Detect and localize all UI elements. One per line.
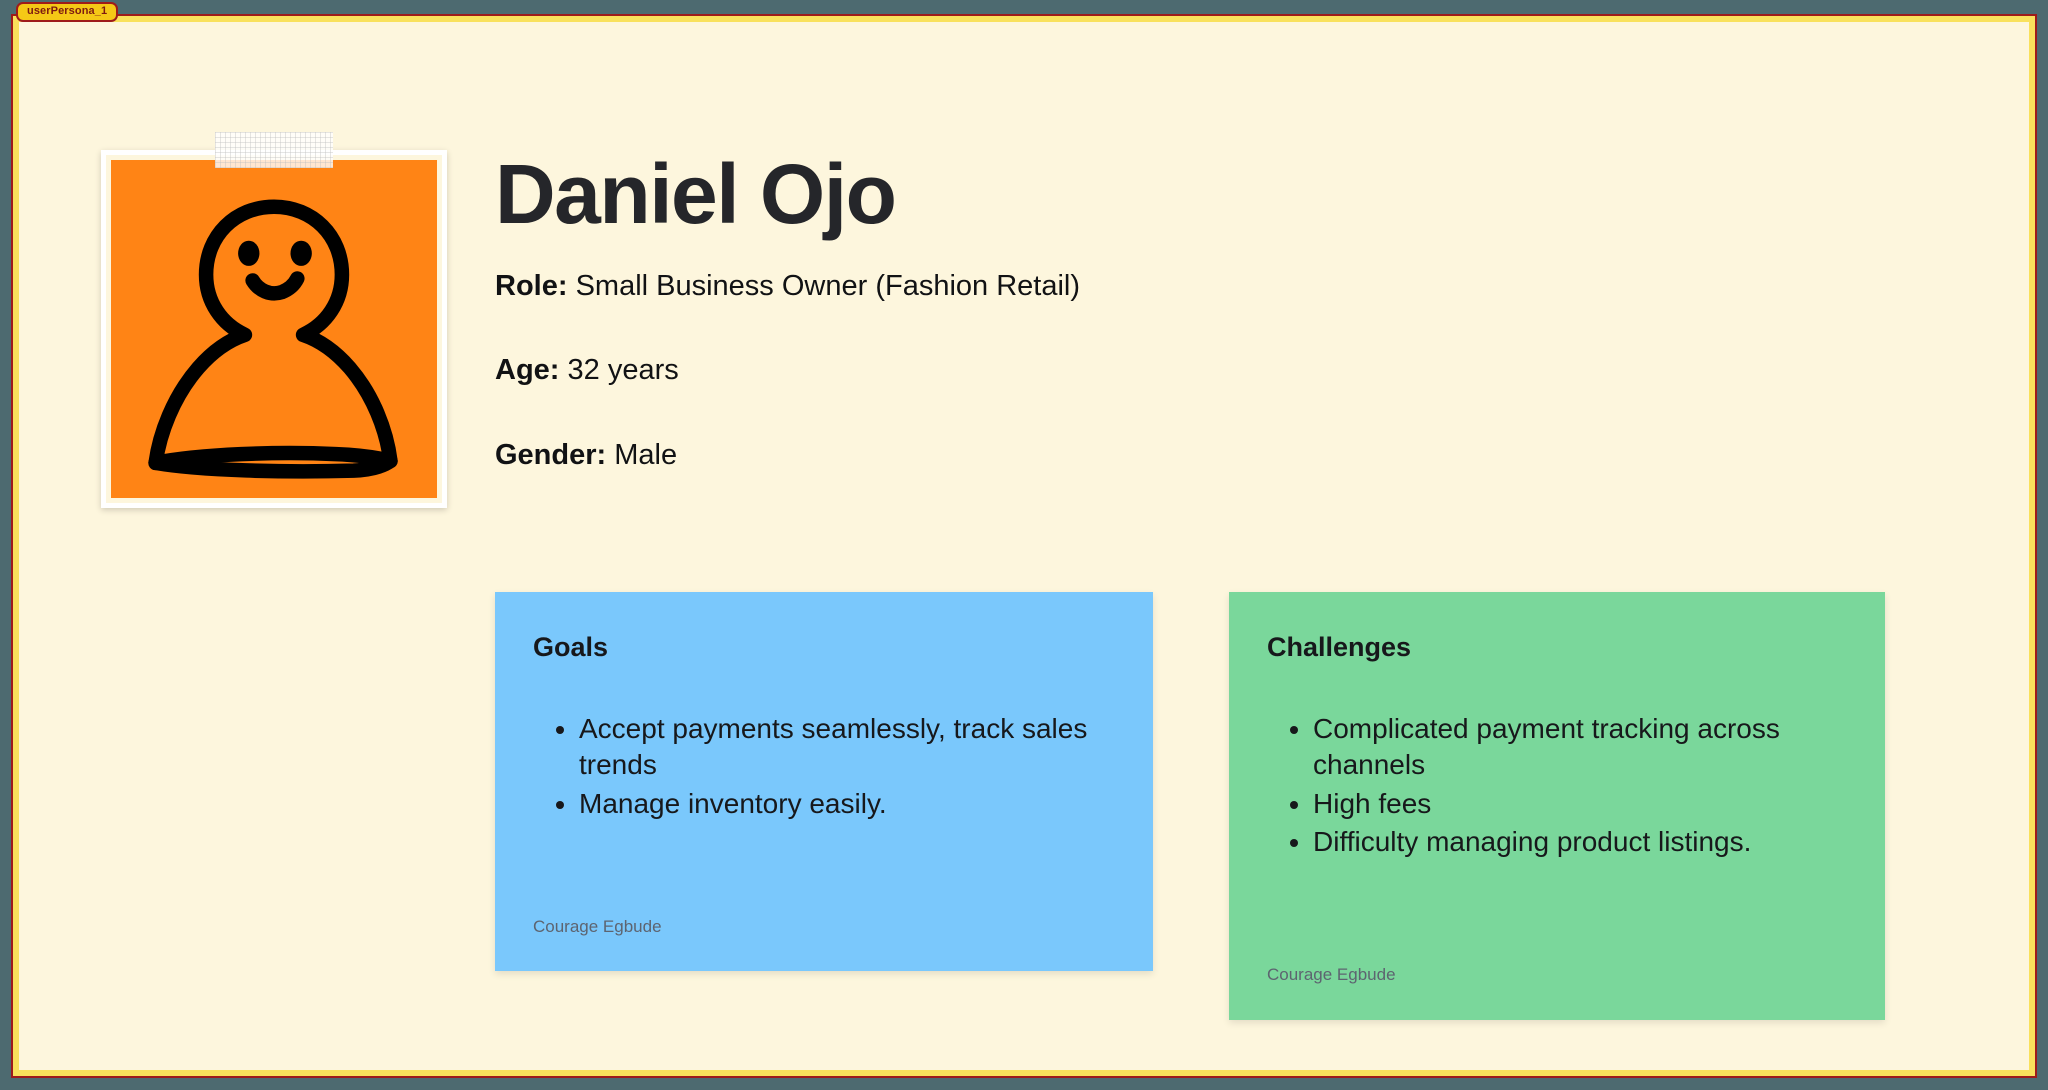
persona-field-gender-value: Male (614, 439, 677, 471)
persona-field-age-label: Age: (495, 354, 559, 386)
persona-canvas: Daniel Ojo Role: Small Business Owner (F… (19, 22, 2029, 1070)
washi-tape-icon (215, 132, 333, 168)
goals-list: Accept payments seamlessly, track sales … (579, 711, 1115, 821)
page-title: Daniel Ojo (495, 152, 1595, 236)
goals-card-footer: Courage Egbude (533, 917, 662, 937)
list-item: Manage inventory easily. (579, 786, 1115, 822)
challenges-card-title: Challenges (1267, 632, 1847, 663)
person-icon (111, 160, 437, 498)
persona-field-gender: Gender: Male (495, 439, 1595, 472)
avatar[interactable] (101, 150, 447, 508)
avatar-image (111, 160, 437, 498)
goals-card-title: Goals (533, 632, 1115, 663)
persona-field-gender-label: Gender: (495, 439, 606, 471)
frame-tab[interactable]: userPersona_1 (16, 2, 118, 22)
challenges-card[interactable]: Challenges Complicated payment tracking … (1229, 592, 1885, 1020)
list-item: High fees (1313, 786, 1847, 822)
challenges-card-footer: Courage Egbude (1267, 965, 1396, 985)
persona-frame: Daniel Ojo Role: Small Business Owner (F… (13, 16, 2035, 1076)
list-item: Difficulty managing product listings. (1313, 824, 1847, 860)
list-item: Complicated payment tracking across chan… (1313, 711, 1847, 783)
frame-tab-label: userPersona_1 (27, 6, 107, 17)
persona-field-role-value: Small Business Owner (Fashion Retail) (576, 270, 1080, 302)
goals-card[interactable]: Goals Accept payments seamlessly, track … (495, 592, 1153, 971)
challenges-list: Complicated payment tracking across chan… (1313, 711, 1847, 860)
persona-field-role: Role: Small Business Owner (Fashion Reta… (495, 270, 1595, 303)
list-item: Accept payments seamlessly, track sales … (579, 711, 1115, 783)
persona-field-age: Age: 32 years (495, 354, 1595, 387)
persona-field-age-value: 32 years (568, 354, 679, 386)
avatar-card (101, 150, 447, 508)
persona-field-role-label: Role: (495, 270, 568, 302)
identity-block: Daniel Ojo Role: Small Business Owner (F… (495, 152, 1595, 472)
